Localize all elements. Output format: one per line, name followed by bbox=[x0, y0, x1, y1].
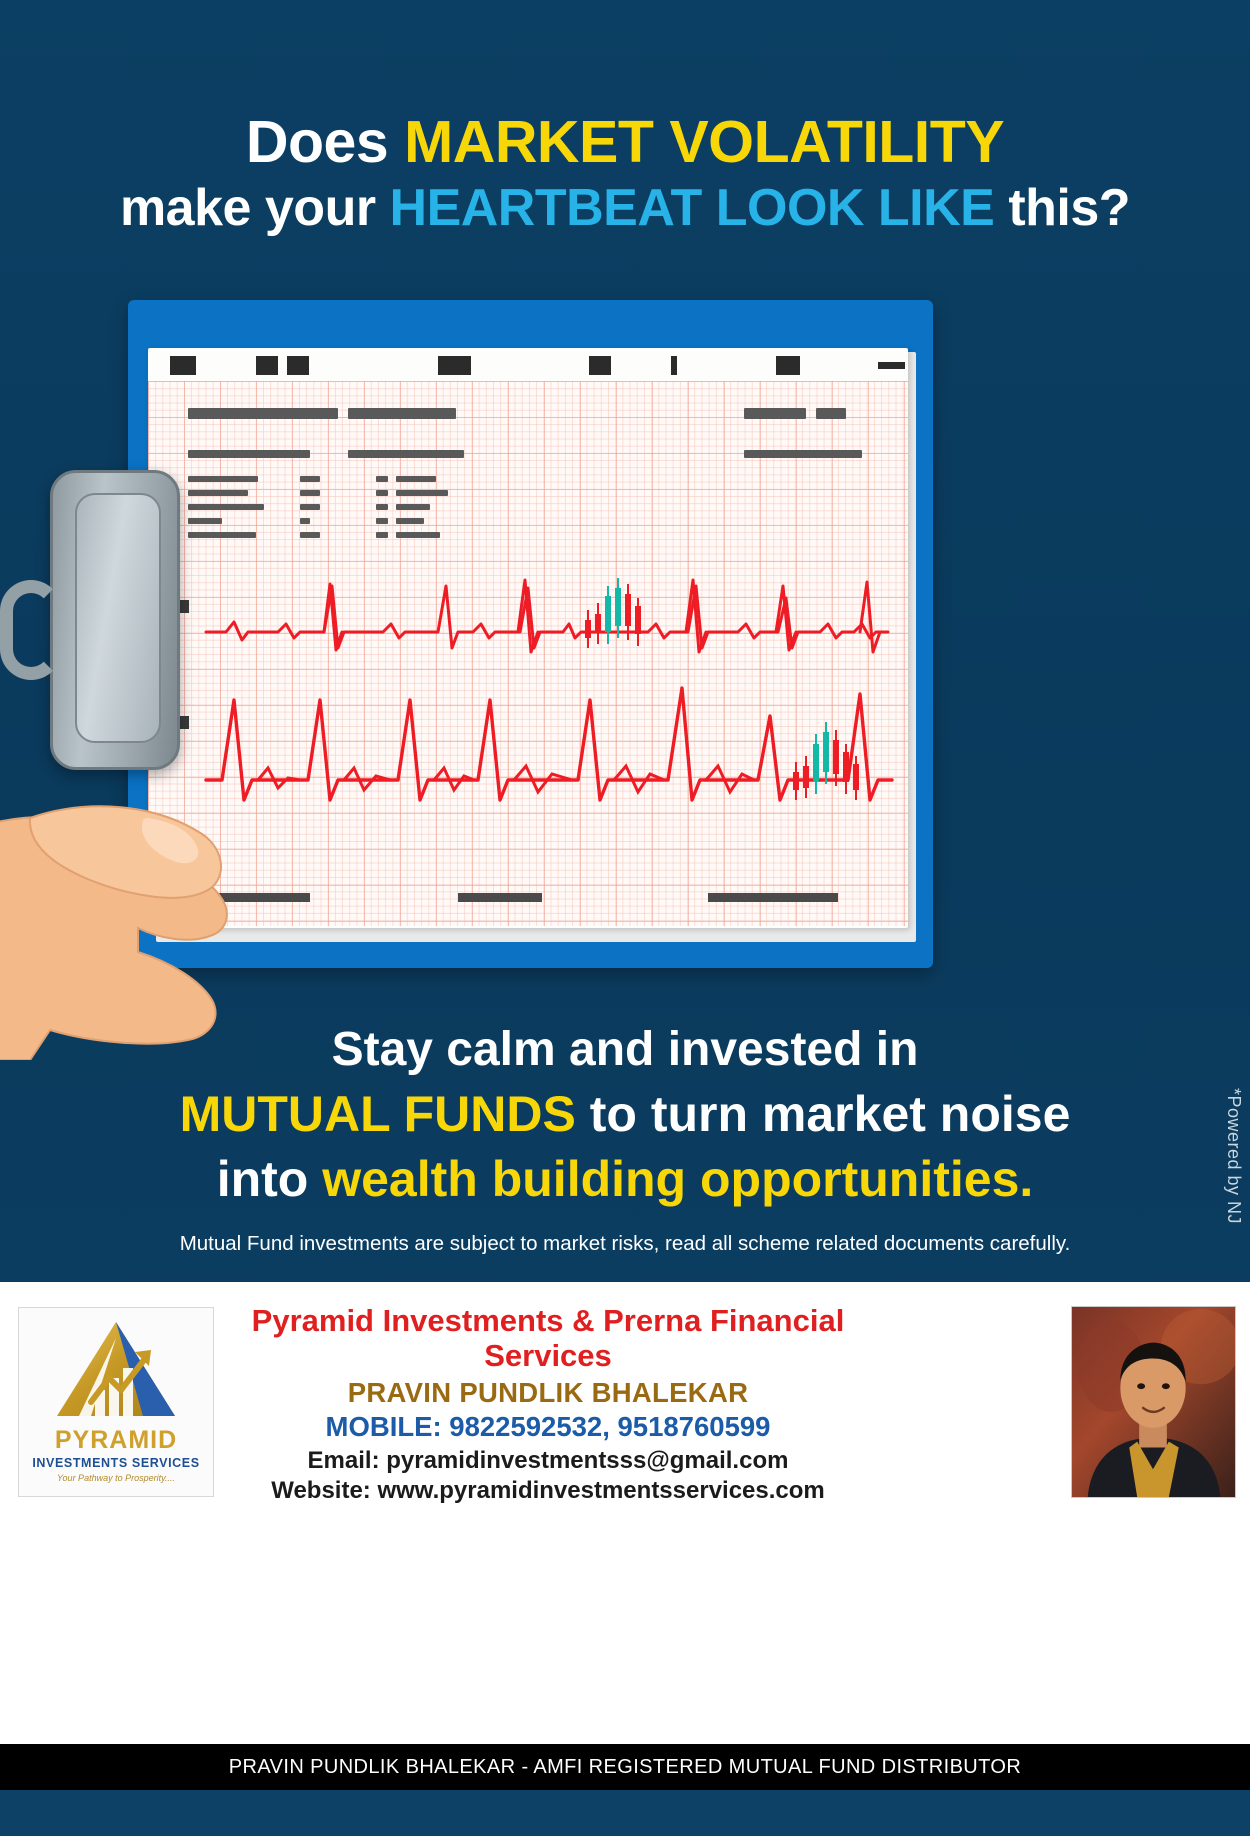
logo-wordmark-rest: YRAMID bbox=[73, 1426, 178, 1454]
subheadline-line-1: Stay calm and invested in bbox=[0, 1022, 1250, 1079]
email-address[interactable]: Email: pyramidinvestmentsss@gmail.com bbox=[228, 1447, 868, 1475]
mobile-numbers[interactable]: MOBILE: 9822592532, 9518760599 bbox=[228, 1411, 868, 1443]
subheadline-line-2-highlight: MUTUAL FUNDS bbox=[180, 1086, 576, 1142]
pyramid-logo-icon bbox=[51, 1316, 181, 1428]
bottom-disclaimer-bar: PRAVIN PUNDLIK BHALEKAR - AMFI REGISTERE… bbox=[0, 1744, 1250, 1790]
bottom-disclaimer-text: PRAVIN PUNDLIK BHALEKAR - AMFI REGISTERE… bbox=[229, 1756, 1021, 1779]
headline: Does MARKET VOLATILITY make your HEARTBE… bbox=[0, 112, 1250, 235]
advisor-photo bbox=[1071, 1306, 1236, 1498]
powered-by-label: *Powered by NJ bbox=[1223, 1088, 1244, 1224]
hand-illustration bbox=[0, 700, 310, 1060]
report-footer-bar bbox=[458, 893, 542, 902]
subheadline: Stay calm and invested in MUTUAL FUNDS t… bbox=[0, 1022, 1250, 1209]
ecg-trace-1-spike bbox=[860, 582, 880, 652]
advisor-name: PRAVIN PUNDLIK BHALEKAR bbox=[228, 1377, 868, 1409]
subheadline-line-3-prefix: into bbox=[217, 1151, 323, 1207]
footer: PYRAMID INVESTMENTS SERVICES Your Pathwa… bbox=[0, 1282, 1250, 1790]
company-name-line-1: Pyramid Investments & Prerna Financial bbox=[228, 1304, 868, 1339]
company-logo: PYRAMID INVESTMENTS SERVICES Your Pathwa… bbox=[18, 1307, 214, 1497]
subheadline-line-2-suffix: to turn market noise bbox=[576, 1086, 1071, 1142]
logo-wordmark: PYRAMID bbox=[55, 1426, 177, 1455]
ecg-trace-1-spike bbox=[776, 586, 796, 650]
contact-block: Pyramid Investments & Prerna Financial S… bbox=[228, 1304, 868, 1505]
headline-line-1-highlight: MARKET VOLATILITY bbox=[404, 109, 1004, 175]
subheadline-line-3: into wealth building opportunities. bbox=[0, 1150, 1250, 1209]
logo-tagline: Your Pathway to Prosperity.... bbox=[57, 1473, 175, 1483]
website-url[interactable]: Website: www.pyramidinvestmentsservices.… bbox=[228, 1477, 868, 1505]
poster-root: Does MARKET VOLATILITY make your HEARTBE… bbox=[0, 0, 1250, 1836]
headline-line-2-highlight: HEARTBEAT LOOK LIKE bbox=[390, 179, 995, 237]
headline-line-2-suffix: this? bbox=[994, 179, 1130, 237]
company-name-line-2: Services bbox=[228, 1339, 868, 1374]
headline-line-1: Does MARKET VOLATILITY bbox=[0, 112, 1250, 172]
logo-wordmark-p: P bbox=[55, 1426, 73, 1454]
logo-subtitle: INVESTMENTS SERVICES bbox=[32, 1456, 199, 1470]
risk-disclaimer: Mutual Fund investments are subject to m… bbox=[0, 1232, 1250, 1256]
headline-line-1-prefix: Does bbox=[246, 109, 404, 175]
advisor-portrait bbox=[1072, 1307, 1235, 1497]
headline-line-2: make your HEARTBEAT LOOK LIKE this? bbox=[0, 182, 1250, 235]
subheadline-line-2: MUTUAL FUNDS to turn market noise bbox=[0, 1085, 1250, 1144]
clipboard-clamp-ring bbox=[0, 580, 62, 680]
subheadline-line-3-highlight: wealth building opportunities. bbox=[322, 1151, 1033, 1207]
candlestick-cluster-1 bbox=[585, 578, 641, 648]
report-footer-bar bbox=[708, 893, 838, 902]
headline-line-2-prefix: make your bbox=[120, 179, 390, 237]
